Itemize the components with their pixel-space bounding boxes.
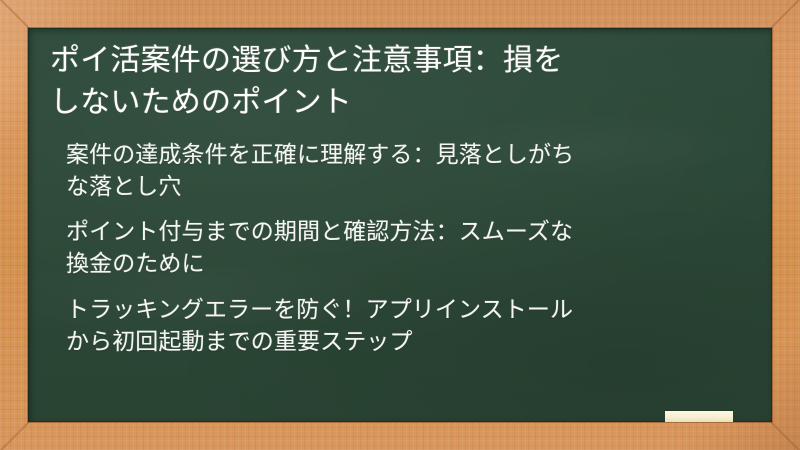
page-title: ポイ活案件の選び方と注意事項：損を しないためのポイント <box>46 34 754 124</box>
chalkboard-content: ポイ活案件の選び方と注意事項：損を しないためのポイント 案件の達成条件を正確に… <box>28 28 772 358</box>
list-item: ポイント付与までの期間と確認方法：スムーズな 換金のために <box>66 217 754 280</box>
chalk-stick <box>665 411 733 422</box>
chalkboard: ポイ活案件の選び方と注意事項：損を しないためのポイント 案件の達成条件を正確に… <box>28 28 772 422</box>
frame-miter-bottom-right <box>769 420 800 450</box>
list-item: 案件の達成条件を正確に理解する：見落としがち な落とし穴 <box>66 140 754 203</box>
wooden-frame: ポイ活案件の選び方と注意事項：損を しないためのポイント 案件の達成条件を正確に… <box>0 0 800 450</box>
list-item: トラッキングエラーを防ぐ！アプリインストール から初回起動までの重要ステップ <box>66 295 754 358</box>
frame-miter-top-left <box>0 0 31 30</box>
topic-list: 案件の達成条件を正確に理解する：見落としがち な落とし穴 ポイント付与までの期間… <box>46 140 754 358</box>
frame-miter-top-right <box>769 0 800 30</box>
frame-miter-bottom-left <box>0 420 31 450</box>
